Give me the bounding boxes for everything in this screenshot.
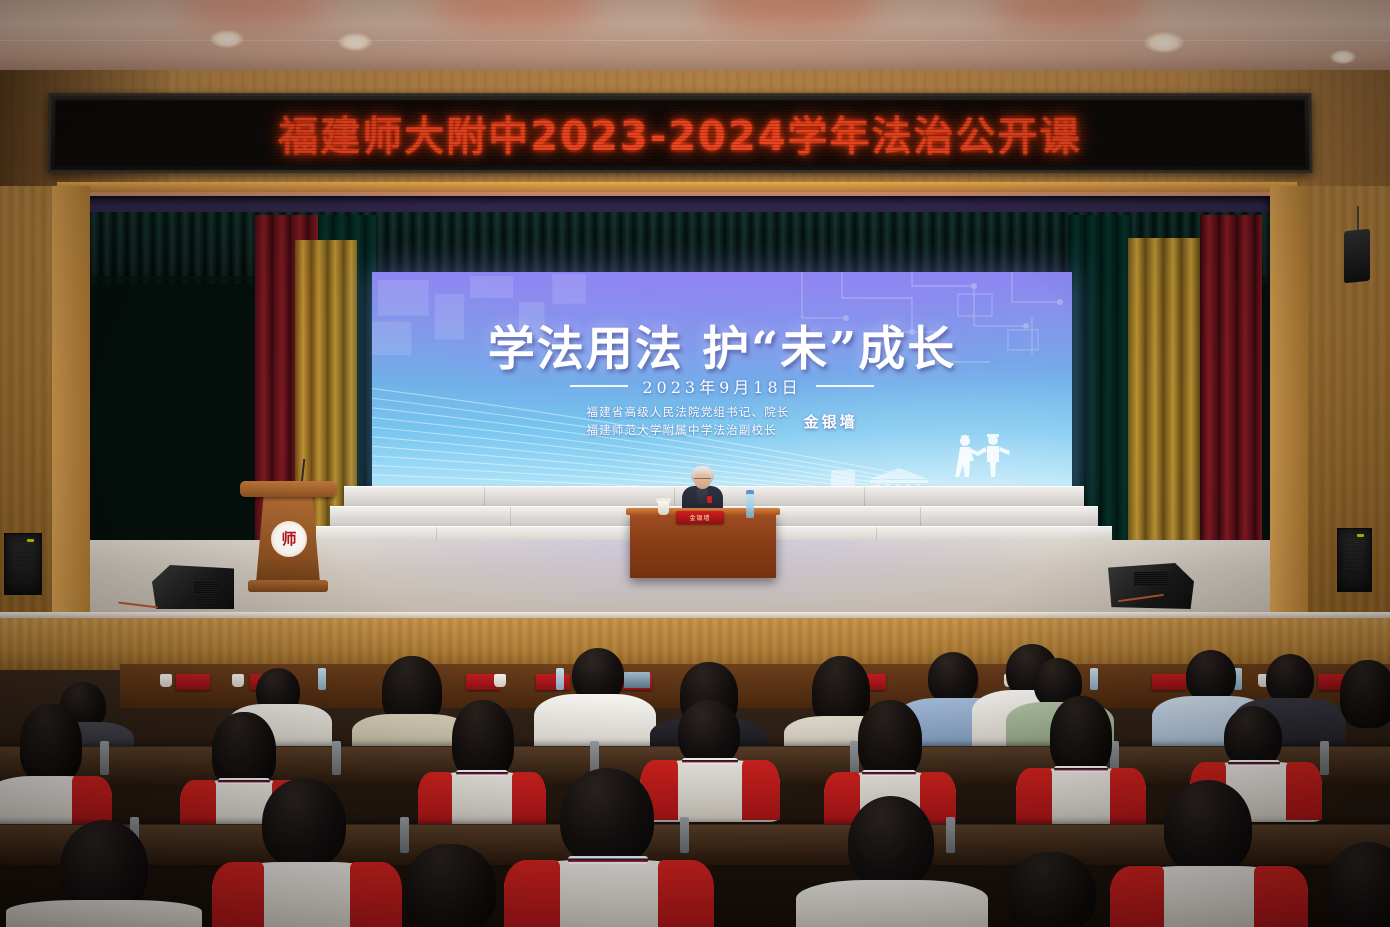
head — [1050, 696, 1112, 776]
guest-laptop — [624, 672, 650, 688]
guest-water-bottle — [1090, 668, 1098, 690]
head — [928, 652, 978, 704]
stage-monitor-right — [1108, 563, 1194, 609]
uniform-shoulder — [1110, 768, 1146, 824]
screen-date-row: 2023年9月18日 — [372, 374, 1072, 398]
uniform-collar — [1054, 766, 1108, 772]
head — [848, 796, 934, 888]
downlight — [1144, 32, 1184, 53]
guest-tea-cup — [494, 674, 506, 687]
head — [678, 700, 740, 766]
uniform-shoulder — [512, 772, 546, 826]
screen-subtitle-block: 福建省高级人民法院党组书记、院长 福建师范大学附属中学法治副校长 — [586, 404, 789, 440]
downlight — [1330, 50, 1356, 64]
rule-left — [570, 385, 628, 387]
uniform-collar — [682, 758, 738, 764]
ceiling-red-glow — [700, 0, 880, 30]
uniform-shoulder — [418, 772, 452, 826]
head — [1224, 706, 1282, 768]
seat-divider — [400, 817, 409, 853]
seat-divider — [100, 741, 109, 775]
desk-nameplate-text: 金银墙 — [676, 511, 724, 524]
guest-water-bottle — [556, 668, 564, 690]
guest-nameplate — [176, 674, 210, 690]
wall-speaker-right — [1337, 528, 1372, 592]
head — [1164, 780, 1252, 874]
student-torso — [796, 880, 988, 927]
guest-water-bottle — [318, 668, 326, 690]
ceiling-red-glow — [430, 0, 600, 30]
speaker-led-indicator — [1357, 534, 1364, 537]
guest-tea-cup — [160, 674, 172, 687]
head — [1006, 852, 1096, 927]
stage-monitor-left — [152, 565, 234, 609]
screen-subtitle-line2: 福建师范大学附属中学法治副校长 — [586, 422, 789, 440]
head — [452, 700, 514, 780]
uniform-shoulder — [350, 862, 402, 927]
uniform-shoulder — [504, 860, 560, 927]
screen-subtitle-row: 福建省高级人民法院党组书记、院长 福建师范大学附属中学法治副校长 金银墙 — [372, 404, 1072, 440]
led-banner-text: 福建师大附中2023-2024学年法治公开课 — [278, 104, 1082, 162]
children-silhouette-icon — [952, 434, 1014, 478]
screen-date: 2023年9月18日 — [642, 374, 801, 398]
student-torso — [6, 900, 202, 927]
glasses-icon — [694, 478, 711, 482]
head — [1340, 660, 1390, 728]
uniform-collar — [862, 770, 916, 776]
uniform-shoulder — [1254, 866, 1308, 927]
seat-divider — [1320, 741, 1329, 775]
head — [1186, 650, 1236, 702]
uniform-shoulder — [1286, 762, 1322, 820]
guest-nameplate — [1152, 674, 1186, 690]
wall-speaker-left — [4, 533, 42, 595]
ceiling-red-glow — [990, 0, 1150, 30]
uniform-collar — [218, 778, 270, 784]
ceiling — [0, 0, 1390, 78]
school-emblem-icon: 师 — [271, 521, 307, 557]
proscenium-lip — [57, 182, 1297, 192]
downlight — [338, 33, 372, 51]
podium-top — [240, 481, 336, 497]
water-bottle — [746, 494, 754, 518]
screen-speaker-name: 金银墙 — [804, 411, 858, 432]
uniform-collar — [456, 770, 508, 776]
side-wall-left-light — [52, 186, 90, 622]
side-wall-right-light — [1270, 186, 1308, 622]
guest-tea-cup — [232, 674, 244, 687]
screen-subtitle-line1: 福建省高级人民法院党组书记、院长 — [586, 404, 789, 422]
ceiling-red-glow — [180, 0, 330, 30]
speaker-badge — [707, 496, 712, 503]
head — [560, 768, 654, 866]
head — [262, 778, 346, 868]
speaker-led-indicator — [27, 539, 34, 542]
seat-divider — [680, 817, 689, 853]
rule-right — [816, 385, 874, 387]
podium-base — [248, 580, 328, 592]
stage-apron — [0, 618, 1390, 670]
uniform-shoulder — [212, 862, 264, 927]
head — [20, 704, 82, 784]
desk-nameplate: 金银墙 — [676, 511, 724, 524]
downlight — [210, 30, 244, 48]
seat-divider — [946, 817, 955, 853]
head — [858, 700, 922, 780]
uniform-collar — [568, 856, 648, 864]
podium-emblem-char: 师 — [281, 532, 296, 547]
podium: 师 — [240, 481, 336, 597]
uniform-shoulder — [1110, 866, 1164, 927]
seat-divider — [332, 741, 341, 775]
uniform-shoulder — [1016, 768, 1052, 824]
led-banner: 福建师大附中2023-2024学年法治公开课 — [47, 93, 1312, 173]
tea-cup — [658, 501, 669, 515]
screen-title: 学法用法 护“未”成长 — [372, 310, 1072, 379]
head — [1266, 654, 1314, 704]
uniform-shoulder — [742, 760, 780, 820]
head — [404, 844, 496, 927]
led-banner-screen: 福建师大附中2023-2024学年法治公开课 — [55, 100, 1306, 166]
uniform-shoulder — [658, 860, 714, 927]
auditorium-scene: 福建师大附中2023-2024学年法治公开课 — [0, 0, 1390, 927]
uniform-collar — [1228, 760, 1280, 766]
hanging-speaker-right — [1344, 229, 1370, 284]
guest-nameplate — [536, 674, 570, 690]
